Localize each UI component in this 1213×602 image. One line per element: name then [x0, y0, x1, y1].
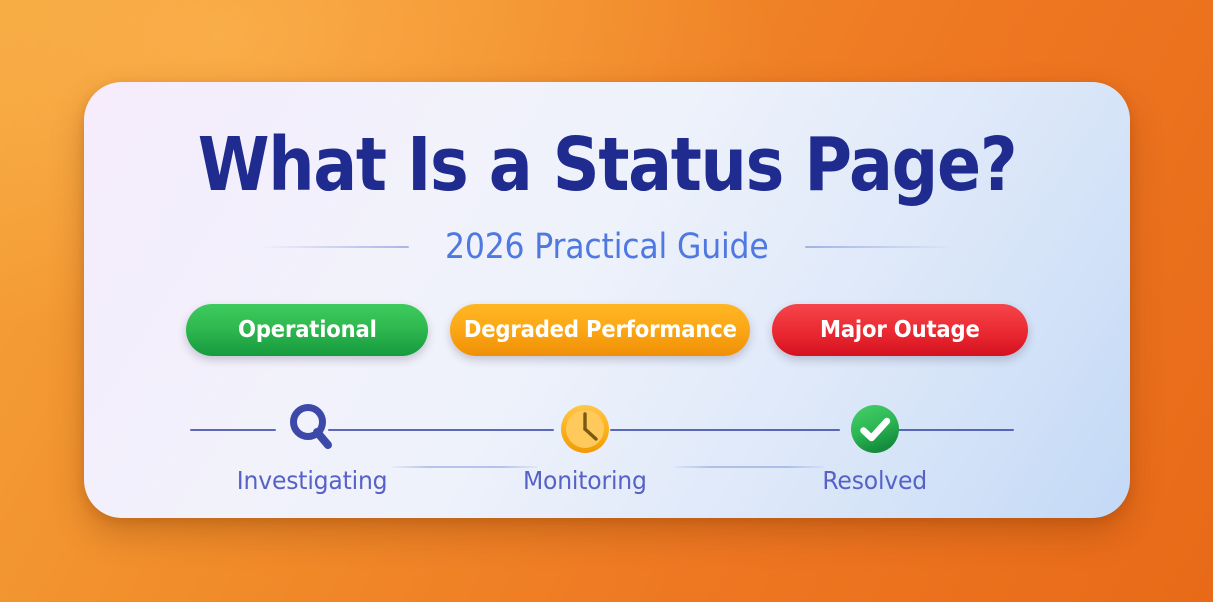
timeline-step-resolved-label: Resolved [823, 466, 928, 495]
subtitle-rule-left [259, 246, 409, 248]
status-badge-major-outage-label: Major Outage [820, 317, 980, 343]
status-badge-degraded-label: Degraded Performance [464, 317, 737, 343]
page-title: What Is a Status Page? [147, 128, 1067, 202]
status-page-card: What Is a Status Page? 2026 Practical Gu… [84, 82, 1130, 518]
status-badge-group: Operational Degraded Performance Major O… [84, 304, 1130, 356]
timeline-step-resolved[interactable]: Resolved [780, 398, 970, 495]
subtitle-rule-right [805, 246, 955, 248]
status-badge-degraded[interactable]: Degraded Performance [450, 304, 750, 356]
timeline-step-investigating-label: Investigating [237, 466, 388, 495]
timeline-step-monitoring-label: Monitoring [523, 466, 647, 495]
subtitle-row: 2026 Practical Guide [84, 227, 1130, 267]
timeline-step-monitoring[interactable]: Monitoring [490, 398, 680, 495]
status-badge-major-outage[interactable]: Major Outage [772, 304, 1028, 356]
status-badge-operational-label: Operational [238, 317, 377, 343]
timeline-step-investigating[interactable]: Investigating [217, 398, 407, 495]
infographic-canvas: What Is a Status Page? 2026 Practical Gu… [0, 0, 1213, 602]
clock-icon [490, 398, 680, 460]
magnifying-glass-icon [217, 398, 407, 460]
status-badge-operational[interactable]: Operational [186, 304, 428, 356]
incident-timeline: Investigating [84, 378, 1130, 488]
check-circle-icon [780, 398, 970, 460]
page-subtitle: 2026 Practical Guide [445, 227, 769, 267]
